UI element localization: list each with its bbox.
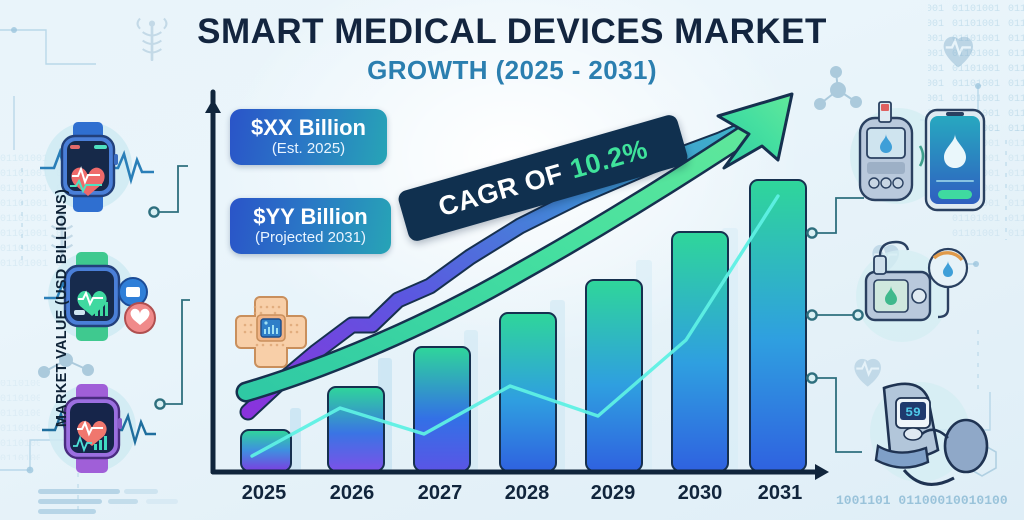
bar-2026 — [328, 387, 384, 471]
x-axis-label-2030: 2030 — [660, 482, 740, 505]
callout-projected-2031: $YY Billion (Projected 2031) — [230, 198, 391, 254]
bp-reading: 59 — [905, 405, 921, 420]
smartphone-health-app — [926, 110, 984, 210]
callout-value: $YY Billion — [244, 205, 377, 229]
cagr-banner: CAGR OF 10.2% — [396, 113, 689, 243]
page-subtitle: GROWTH (2025 - 2031) — [0, 55, 1024, 86]
svg-text:1001101 01100010010100: 1001101 01100010010100 — [836, 493, 1008, 508]
bar-2030 — [672, 232, 728, 471]
x-axis-label-2028: 2028 — [487, 482, 567, 505]
blood-pressure-monitor: 59 — [870, 382, 987, 484]
cagr-value: 10.2% — [567, 133, 652, 185]
ghost-bars — [290, 228, 738, 471]
cagr-label: CAGR OF — [435, 158, 567, 223]
page-title: SMART MEDICAL DEVICES MARKET — [0, 14, 1024, 51]
callout-value: $XX Billion — [244, 116, 373, 140]
bar-2028 — [500, 313, 556, 471]
x-axis-label-2025: 2025 — [224, 482, 304, 505]
heart-pulse-icon — [854, 37, 973, 387]
x-axis-label-2026: 2026 — [312, 482, 392, 505]
x-axis-label-2029: 2029 — [573, 482, 653, 505]
bar-2029 — [586, 280, 642, 471]
bar-2027 — [414, 347, 470, 471]
x-axis-label-2027: 2027 — [400, 482, 480, 505]
callout-note: (Est. 2025) — [244, 140, 373, 157]
glucose-meter — [850, 102, 946, 204]
bar-2025 — [241, 430, 291, 471]
bar-2031 — [750, 180, 806, 471]
title-block: SMART MEDICAL DEVICES MARKET GROWTH (202… — [0, 14, 1024, 86]
infographic-canvas: 01101001 1001101 01100010010100 — [0, 0, 1024, 520]
x-axis-label-2031: 2031 — [740, 482, 820, 505]
callout-note: (Projected 2031) — [244, 229, 377, 246]
placeholder-bars — [38, 489, 178, 514]
y-axis-label: MARKET VALUE (USD BILLIONS) — [54, 183, 70, 433]
insulin-pump — [856, 242, 967, 342]
callout-est-2025: $XX Billion (Est. 2025) — [230, 109, 387, 165]
